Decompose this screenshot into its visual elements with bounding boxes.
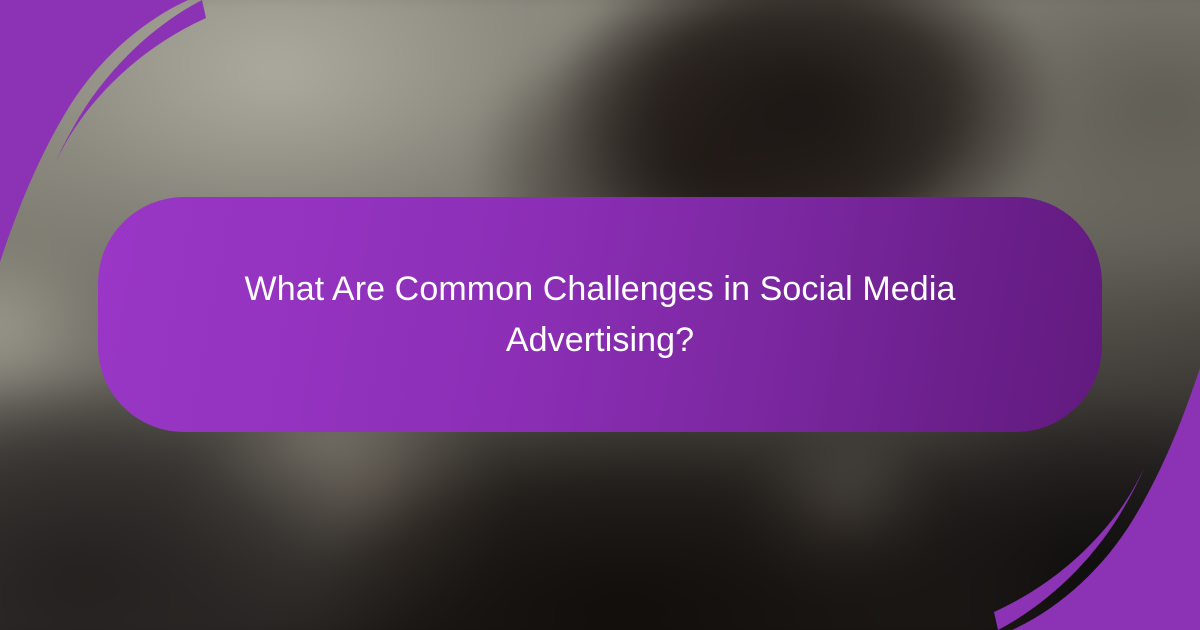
social-share-card: What Are Common Challenges in Social Med…	[0, 0, 1200, 630]
title-card: What Are Common Challenges in Social Med…	[98, 197, 1102, 432]
page-title: What Are Common Challenges in Social Med…	[205, 264, 995, 366]
